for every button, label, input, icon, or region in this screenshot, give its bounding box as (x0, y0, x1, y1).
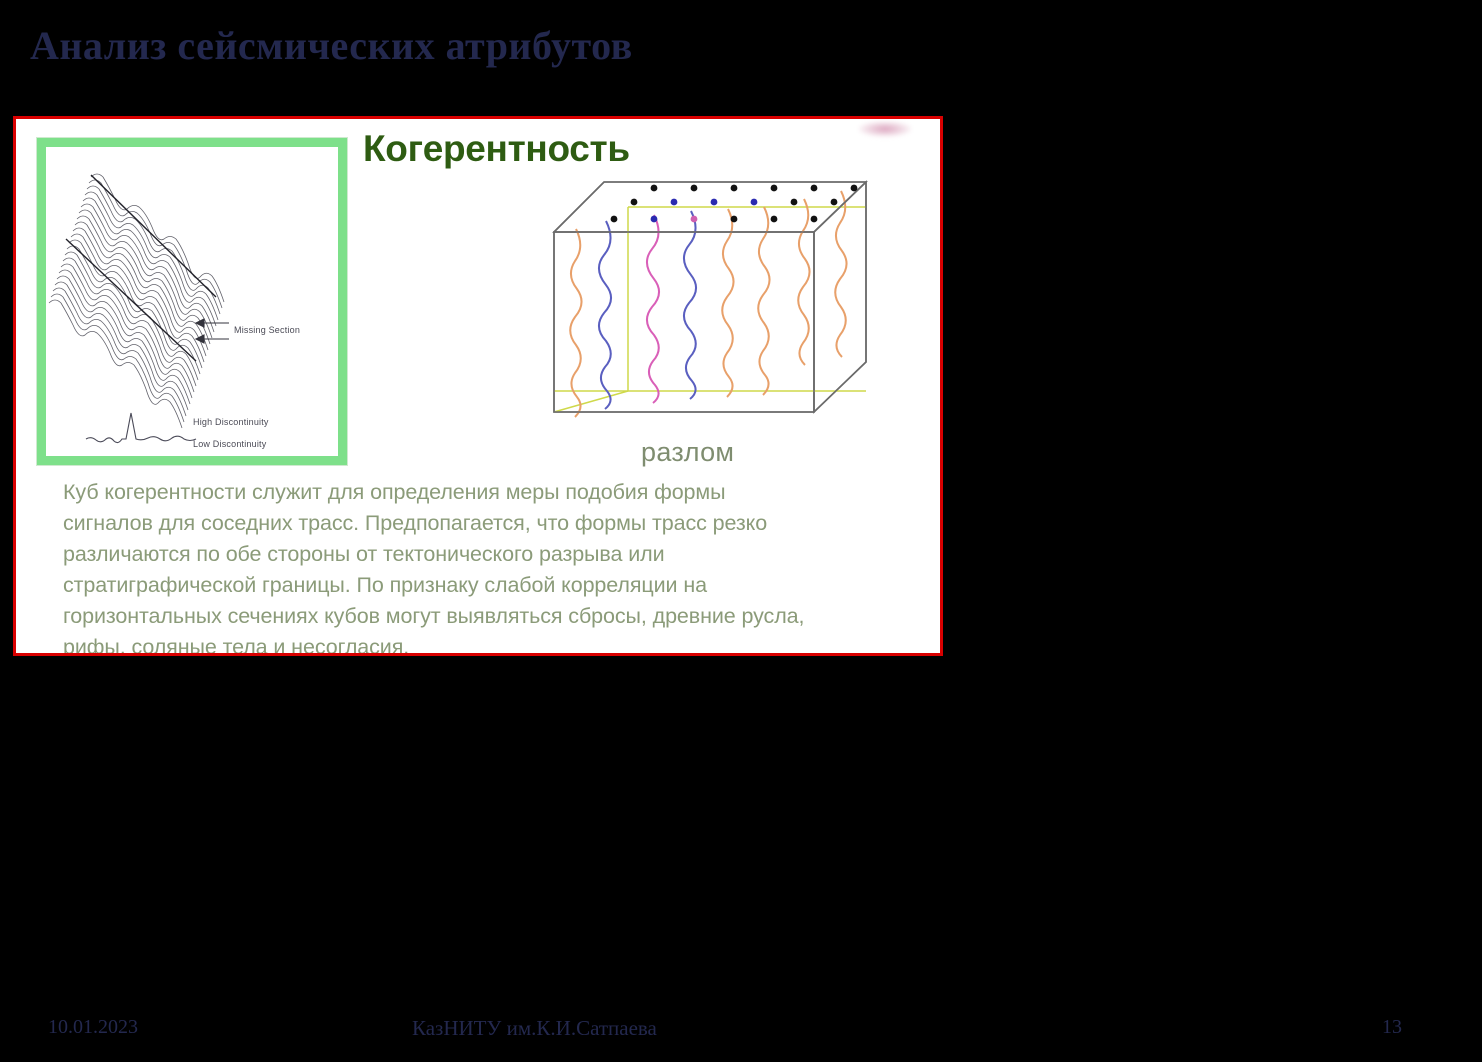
page-title: Анализ сейсмических атрибутов (30, 22, 633, 69)
label-missing-section: Missing Section (234, 325, 300, 335)
coherence-cube-figure (536, 169, 876, 469)
paragraph-line-2: сигналов для соседних трасс. Предпопагае… (63, 508, 913, 539)
pink-smudge-artifact (858, 121, 912, 137)
wiggle-display-graphic (46, 147, 338, 456)
seismic-wiggle-figure: Missing Section High Discontinuity Low D… (37, 138, 347, 465)
footer-date: 10.01.2023 (48, 1016, 138, 1039)
description-paragraph: Куб когерентности служит для определения… (63, 477, 913, 656)
footer-page-number: 13 (1382, 1016, 1402, 1039)
paragraph-line-1: Куб когерентности служит для определения… (63, 477, 913, 508)
label-low-discontinuity: Low Discontinuity (193, 439, 266, 449)
coherence-cube-graphic (536, 169, 876, 469)
paragraph-line-4: стратиграфической границы. По признаку с… (63, 570, 913, 601)
content-panel: Missing Section High Discontinuity Low D… (13, 116, 943, 656)
label-high-discontinuity: High Discontinuity (193, 417, 269, 427)
paragraph-line-5: горизонтальных сечениях кубов могут выяв… (63, 601, 913, 632)
paragraph-line-6: рифы, соляные тела и несогласия. (63, 632, 913, 656)
figure-heading-coherence: Когерентность (363, 128, 630, 170)
cube-caption-fault: разлом (641, 437, 734, 468)
paragraph-line-3: различаются по обе стороны от тектоничес… (63, 539, 913, 570)
footer-organization: КазНИТУ им.К.И.Сатпаева (412, 1016, 657, 1041)
